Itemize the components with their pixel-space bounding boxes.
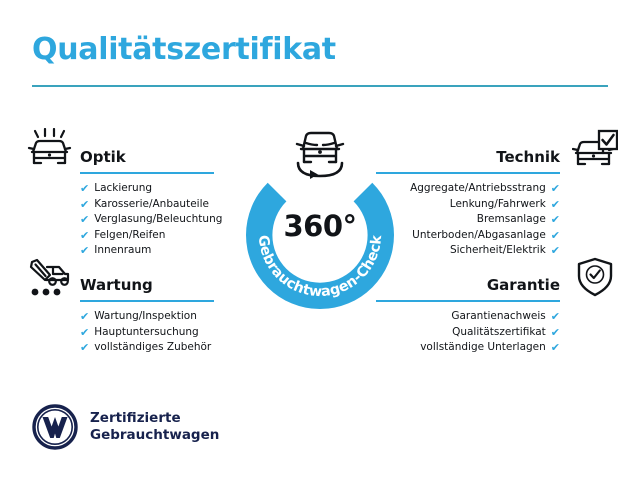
vw-footer-text: Zertifizierte Gebrauchtwagen: [90, 410, 219, 444]
list-item: ✔Verglasung/Beleuchtung: [22, 212, 272, 228]
section-garantie-title: Garantie: [487, 276, 560, 294]
list-item: ✔Aggregate/Antriebsstrang: [368, 181, 618, 197]
list-item: ✔Karosserie/Anbauteile: [22, 197, 272, 213]
list-item-label: Qualitätszertifikat: [452, 325, 546, 341]
car-shine-icon: [26, 128, 72, 170]
check-icon: ✔: [551, 214, 560, 225]
list-item: ✔Felgen/Reifen: [22, 228, 272, 244]
check-icon: ✔: [80, 245, 89, 256]
section-garantie-header: Garantie: [368, 256, 618, 302]
list-item-label: Lackierung: [94, 181, 152, 197]
list-item-label: Garantienachweis: [451, 309, 545, 325]
check-icon: ✔: [80, 214, 89, 225]
car-front-rotate-icon: [285, 126, 355, 184]
list-item: ✔vollständiges Zubehör: [22, 340, 272, 356]
list-item: ✔Lackierung: [22, 181, 272, 197]
list-item: ✔Garantienachweis: [368, 309, 618, 325]
check-icon: ✔: [551, 311, 560, 322]
list-item: ✔Wartung/Inspektion: [22, 309, 272, 325]
section-garantie: Garantie ✔Garantienachweis ✔Qualitätszer…: [368, 256, 618, 356]
section-wartung-divider: [80, 300, 214, 302]
car-checkbox-icon: [572, 128, 618, 170]
list-item-label: Karosserie/Anbauteile: [94, 197, 209, 213]
check-icon: ✔: [80, 230, 89, 241]
section-optik: Optik ✔Lackierung ✔Karosserie/Anbauteile…: [22, 128, 272, 259]
wrench-car-icon: [26, 256, 72, 298]
list-item: ✔vollständige Unterlagen: [368, 340, 618, 356]
section-technik-header: Technik: [368, 128, 618, 174]
section-wartung: Wartung ✔Wartung/Inspektion ✔Hauptunters…: [22, 256, 272, 356]
section-technik: Technik ✔Aggregate/Antriebsstrang ✔Lenku…: [368, 128, 618, 259]
page-title: Qualitätszertifikat: [32, 33, 336, 66]
list-item-label: Felgen/Reifen: [94, 228, 165, 244]
vw-footer-line1: Zertifizierte: [90, 410, 181, 426]
list-item-label: Wartung/Inspektion: [94, 309, 197, 325]
list-item: ✔Qualitätszertifikat: [368, 325, 618, 341]
vw-logo-icon: [32, 404, 78, 450]
check-icon: ✔: [80, 183, 89, 194]
list-item-label: Verglasung/Beleuchtung: [94, 212, 222, 228]
section-wartung-title: Wartung: [80, 276, 153, 294]
vw-footer-line2: Gebrauchtwagen: [90, 427, 219, 443]
check-icon: ✔: [80, 311, 89, 322]
list-item: ✔Hauptuntersuchung: [22, 325, 272, 341]
check-icon: ✔: [80, 342, 89, 353]
badge-center-label: 360°: [243, 209, 397, 243]
list-item-label: Aggregate/Antriebsstrang: [410, 181, 546, 197]
section-garantie-list: ✔Garantienachweis ✔Qualitätszertifikat ✔…: [368, 309, 618, 356]
section-technik-divider: [376, 172, 560, 174]
check-icon: ✔: [551, 327, 560, 338]
section-technik-list: ✔Aggregate/Antriebsstrang ✔Lenkung/Fahrw…: [368, 181, 618, 259]
list-item-label: vollständiges Zubehör: [94, 340, 211, 356]
section-optik-divider: [80, 172, 214, 174]
check-icon: ✔: [551, 199, 560, 210]
section-garantie-divider: [376, 300, 560, 302]
header-divider: [32, 85, 608, 87]
list-item-label: Bremsanlage: [477, 212, 546, 228]
list-item-label: Unterboden/Abgasanlage: [412, 228, 546, 244]
check-icon: ✔: [80, 327, 89, 338]
section-optik-header: Optik: [22, 128, 272, 174]
check-icon: ✔: [551, 230, 560, 241]
list-item-label: Lenkung/Fahrwerk: [450, 197, 546, 213]
check-icon: ✔: [551, 183, 560, 194]
section-wartung-list: ✔Wartung/Inspektion ✔Hauptuntersuchung ✔…: [22, 309, 272, 356]
list-item: ✔Unterboden/Abgasanlage: [368, 228, 618, 244]
shield-check-icon: [572, 256, 618, 298]
list-item-label: Hauptuntersuchung: [94, 325, 199, 341]
section-wartung-header: Wartung: [22, 256, 272, 302]
section-technik-title: Technik: [496, 148, 560, 166]
list-item: ✔Lenkung/Fahrwerk: [368, 197, 618, 213]
check-icon: ✔: [551, 245, 560, 256]
vw-footer: Zertifizierte Gebrauchtwagen: [32, 404, 219, 450]
check-icon: ✔: [551, 342, 560, 353]
section-optik-list: ✔Lackierung ✔Karosserie/Anbauteile ✔Verg…: [22, 181, 272, 259]
certificate-page: Qualitätszertifikat: [0, 0, 640, 480]
list-item: ✔Bremsanlage: [368, 212, 618, 228]
check-icon: ✔: [80, 199, 89, 210]
list-item-label: vollständige Unterlagen: [420, 340, 546, 356]
section-optik-title: Optik: [80, 148, 126, 166]
